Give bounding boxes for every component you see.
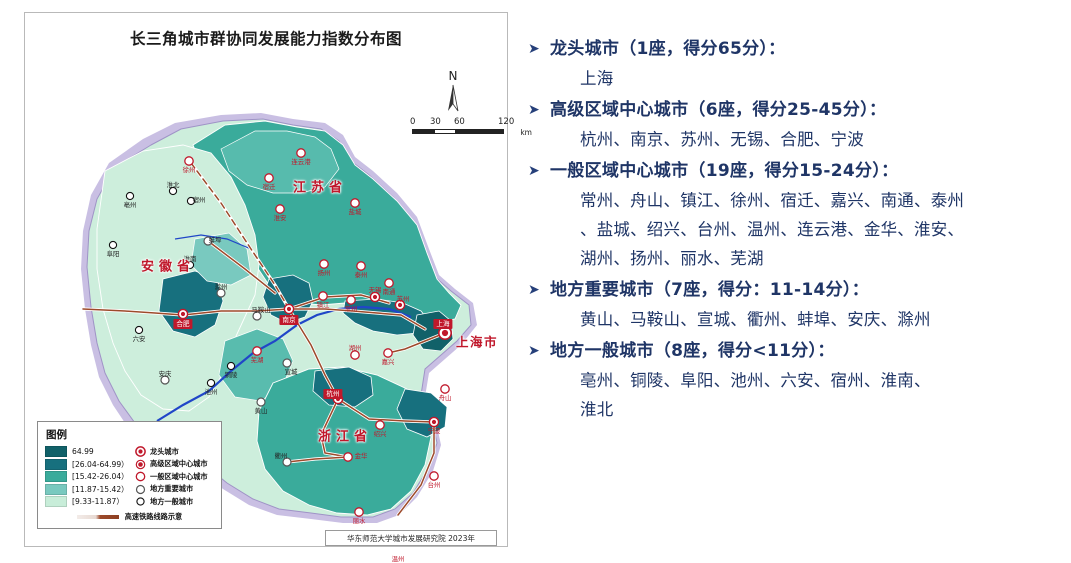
- city-label: 宁波: [428, 428, 441, 435]
- city-label: 阜阳: [107, 251, 120, 258]
- capital-label: 杭州: [323, 389, 342, 399]
- tier-heading-row: ➤ 地方一般城市（8座，得分<11分）：: [528, 336, 1058, 366]
- city-label: 芜湖: [251, 357, 264, 364]
- city-label: 池州: [205, 389, 218, 396]
- tier-city-line: 杭州、南京、苏州、无锡、合肥、宁波: [528, 125, 1058, 154]
- province-label: 安徽省: [141, 256, 195, 275]
- tier-block-3: ➤ 一般区域中心城市（19座，得分15-24分）： 常州、舟山、镇江、徐州、宿迁…: [528, 156, 1058, 273]
- map-legend: 图例 64.99 龙头城市 [26.04-64.99） 高级区域: [37, 421, 222, 529]
- arrow-bullet-icon: ➤: [528, 95, 550, 125]
- city-label: 淮安: [274, 215, 287, 222]
- city-label: 镇江: [317, 302, 330, 309]
- tier-city-line: 亳州、铜陵、阜阳、池州、六安、宿州、淮南、: [528, 366, 1058, 395]
- legend-row: [15.42-26.04） 一般区域中心城市: [45, 471, 214, 483]
- hollow-ring-red-icon: [134, 471, 147, 482]
- legend-category: 地方一般城市: [150, 497, 193, 507]
- legend-range: 64.99: [72, 447, 134, 456]
- legend-row: [26.04-64.99） 高级区域中心城市: [45, 459, 214, 471]
- province-label: 浙江省: [318, 426, 372, 445]
- city-label: 亳州: [124, 202, 137, 209]
- city-label: 嘉兴: [382, 359, 395, 366]
- legend-category: 地方重要城市: [150, 484, 193, 494]
- legend-swatch: [45, 496, 67, 507]
- arrow-bullet-icon: ➤: [528, 275, 550, 305]
- legend-row: 64.99 龙头城市: [45, 446, 214, 458]
- hollow-ring-black-icon: [134, 496, 147, 507]
- legend-range: [9.33-11.87）: [72, 496, 134, 507]
- legend-range: [26.04-64.99）: [72, 459, 134, 470]
- filled-ring-red-icon: [134, 459, 147, 470]
- city-label: 苏州: [397, 296, 410, 303]
- legend-swatch: [45, 459, 67, 470]
- tier-city-line: 常州、舟山、镇江、徐州、宿迁、嘉兴、南通、泰州: [528, 186, 1058, 215]
- city-label: 丽水: [353, 518, 366, 525]
- city-label: 宣城: [285, 369, 298, 376]
- tier-city-line: 淮北: [528, 395, 1058, 424]
- legend-row: [11.87-15.42） 地方重要城市: [45, 484, 214, 496]
- city-label: 滁州: [215, 284, 228, 291]
- legend-rows: 64.99 龙头城市 [26.04-64.99） 高级区域中心城市: [45, 446, 214, 522]
- city-tier-panel: ➤ 龙头城市（1座，得分65分）： 上海 ➤ 高级区域中心城市（6座，得分25-…: [528, 34, 1058, 426]
- tier-heading-row: ➤ 高级区域中心城市（6座，得分25-45分）：: [528, 95, 1058, 125]
- legend-title: 图例: [46, 427, 214, 442]
- tier-heading: 地方一般城市（8座，得分<11分）：: [550, 336, 835, 366]
- city-label: 蚌埠: [209, 237, 222, 244]
- legend-category: 一般区域中心城市: [150, 472, 208, 482]
- marker-tier2-dot: [181, 295, 436, 424]
- marker-tier3: [185, 149, 449, 523]
- legend-category: 高级区域中心城市: [150, 459, 208, 469]
- city-label: 金华: [355, 453, 368, 460]
- city-label: 宿州: [193, 197, 206, 204]
- tier-heading-row: ➤ 地方重要城市（7座，得分：11-14分）：: [528, 275, 1058, 305]
- tier-heading: 地方重要城市（7座，得分：11-14分）：: [550, 275, 869, 305]
- city-label: 常州: [345, 306, 358, 313]
- double-ring-red-icon: [134, 446, 147, 457]
- city-label: 湖州: [349, 345, 362, 352]
- map-credit: 华东师范大学城市发展研究院 2023年: [325, 530, 497, 546]
- tier-city-line: 、盐城、绍兴、台州、温州、连云港、金华、淮安、: [528, 215, 1058, 244]
- arrow-bullet-icon: ➤: [528, 34, 550, 64]
- tier-heading-row: ➤ 龙头城市（1座，得分65分）：: [528, 34, 1058, 64]
- city-label: 马鞍山: [251, 307, 270, 314]
- city-label: 南通: [383, 289, 396, 296]
- tier-heading: 龙头城市（1座，得分65分）：: [550, 34, 786, 64]
- map-title: 长三角城市群协同发展能力指数分布图: [25, 27, 507, 49]
- arrow-bullet-icon: ➤: [528, 336, 550, 366]
- tier-city-line: 湖州、扬州、丽水、芜湖: [528, 244, 1058, 273]
- capital-label: 上海: [433, 319, 452, 329]
- legend-swatch: [45, 446, 67, 457]
- province-label: 江苏省: [293, 177, 347, 196]
- tier-city-line: 上海: [528, 64, 1058, 93]
- city-label: 绍兴: [374, 431, 387, 438]
- legend-range: [15.42-26.04）: [72, 471, 134, 482]
- map-figure: 长三角城市群协同发展能力指数分布图 N 0 30 60 120 km: [24, 12, 508, 547]
- tier-heading-row: ➤ 一般区域中心城市（19座，得分15-24分）：: [528, 156, 1058, 186]
- legend-row: [9.33-11.87） 地方一般城市: [45, 496, 214, 508]
- city-label: 徐州: [183, 167, 196, 174]
- tier-city-line: 黄山、马鞍山、宣城、衢州、蚌埠、安庆、滁州: [528, 305, 1058, 334]
- hollow-ring-gray-icon: [134, 484, 147, 495]
- legend-range: [11.87-15.42）: [72, 484, 134, 495]
- province-label: 上海市: [456, 332, 498, 351]
- city-label: 连云港: [291, 159, 310, 166]
- city-label: 温州: [392, 556, 405, 563]
- capital-label: 合肥: [173, 319, 192, 329]
- legend-category: 龙头城市: [150, 447, 179, 457]
- tier-block-1: ➤ 龙头城市（1座，得分65分）： 上海: [528, 34, 1058, 93]
- tier-block-5: ➤ 地方一般城市（8座，得分<11分）： 亳州、铜陵、阜阳、池州、六安、宿州、淮…: [528, 336, 1058, 424]
- tier-block-2: ➤ 高级区域中心城市（6座，得分25-45分）： 杭州、南京、苏州、无锡、合肥、…: [528, 95, 1058, 154]
- tier-heading: 一般区域中心城市（19座，得分15-24分）：: [550, 156, 898, 186]
- city-label: 扬州: [318, 270, 331, 277]
- city-label: 泰州: [355, 272, 368, 279]
- city-label: 舟山: [439, 395, 452, 402]
- marker-tier2: [178, 292, 438, 426]
- rail-line-icon: [77, 515, 119, 519]
- city-label: 安庆: [159, 371, 172, 378]
- arrow-bullet-icon: ➤: [528, 156, 550, 186]
- city-label: 盐城: [349, 209, 362, 216]
- legend-rail-row: 高速铁路线路示意: [45, 512, 214, 522]
- city-label: 六安: [133, 336, 146, 343]
- capital-label: 南京: [279, 315, 298, 325]
- city-label: 淮北: [167, 182, 180, 189]
- legend-swatch: [45, 471, 67, 482]
- city-label: 铜陵: [225, 372, 238, 379]
- city-label: 台州: [428, 482, 441, 489]
- tier-heading: 高级区域中心城市（6座，得分25-45分）：: [550, 95, 886, 125]
- city-label: 黄山: [255, 408, 268, 415]
- tier-block-4: ➤ 地方重要城市（7座，得分：11-14分）： 黄山、马鞍山、宣城、衢州、蚌埠、…: [528, 275, 1058, 334]
- legend-rail-label: 高速铁路线路示意: [125, 512, 183, 522]
- city-label: 衢州: [275, 453, 288, 460]
- city-label: 宿迁: [263, 184, 276, 191]
- legend-swatch: [45, 484, 67, 495]
- slide-root: 长三角城市群协同发展能力指数分布图 N 0 30 60 120 km: [0, 0, 1071, 559]
- city-label: 无锡: [369, 287, 382, 294]
